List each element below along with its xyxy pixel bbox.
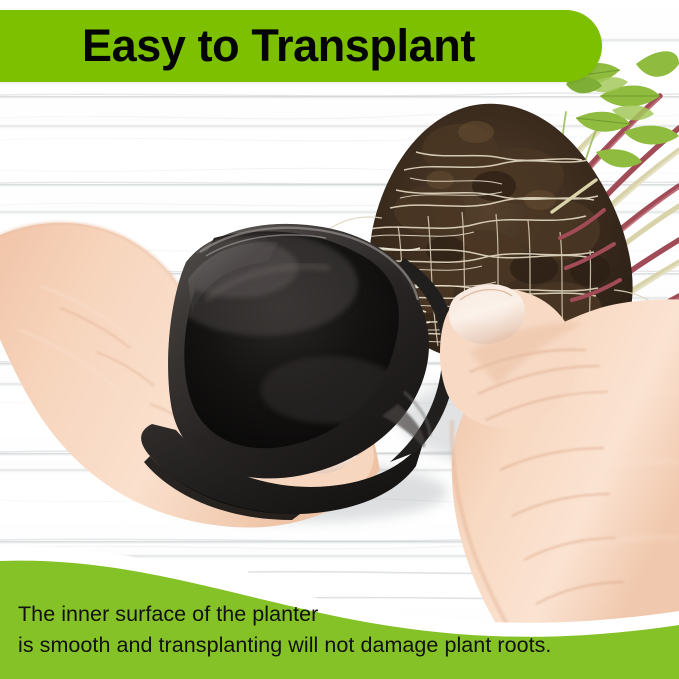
footer-line-1: The inner surface of the planter [18,599,668,630]
footer-description: The inner surface of the planter is smoo… [18,599,668,661]
page-title: Easy to Transplant [82,12,582,80]
footer-line-2: is smooth and transplanting will not dam… [18,630,668,661]
fingertip-highlight [460,292,512,324]
product-infographic: Easy to Transplant The inner surface of … [0,0,679,679]
